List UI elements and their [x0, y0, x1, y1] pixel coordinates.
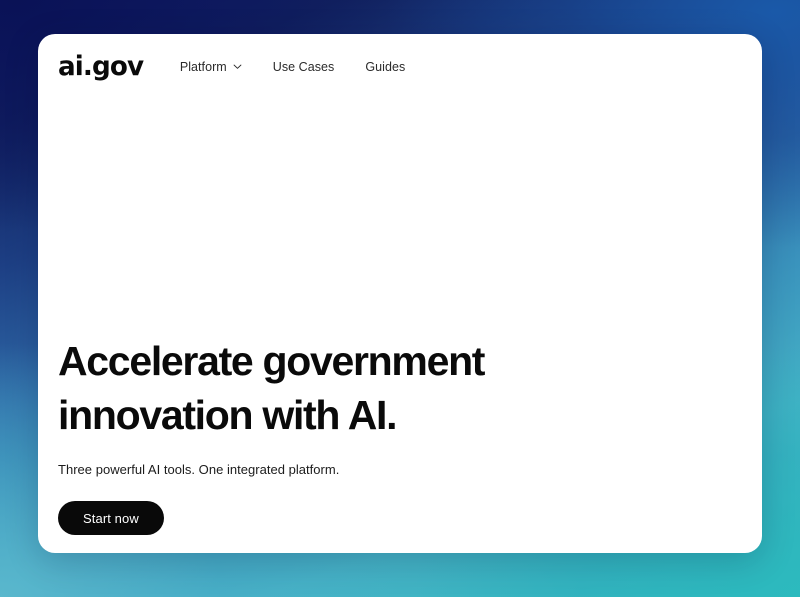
hero-section: Accelerate government innovation with AI… [38, 334, 762, 553]
hero-subtitle: Three powerful AI tools. One integrated … [58, 461, 742, 479]
nav-item-platform-label: Platform [180, 60, 227, 74]
nav-item-use-cases[interactable]: Use Cases [273, 60, 335, 74]
hero-headline-line-1: Accelerate government [58, 334, 578, 388]
nav-item-platform[interactable]: Platform [180, 60, 242, 74]
hero-card: ai.gov Platform Use Cases Guides Acceler… [38, 34, 762, 553]
nav-item-guides[interactable]: Guides [365, 60, 405, 74]
nav-item-use-cases-label: Use Cases [273, 60, 335, 74]
site-logo[interactable]: ai.gov [58, 53, 143, 80]
hero-headline: Accelerate government innovation with AI… [58, 334, 578, 442]
chevron-down-icon [233, 62, 242, 71]
hero-cta-row: Start now [58, 501, 742, 535]
hero-headline-line-2: innovation with AI. [58, 388, 578, 442]
nav-links: Platform Use Cases Guides [180, 60, 405, 74]
nav-item-guides-label: Guides [365, 60, 405, 74]
site-navbar: ai.gov Platform Use Cases Guides [38, 34, 762, 80]
start-now-button[interactable]: Start now [58, 501, 164, 535]
